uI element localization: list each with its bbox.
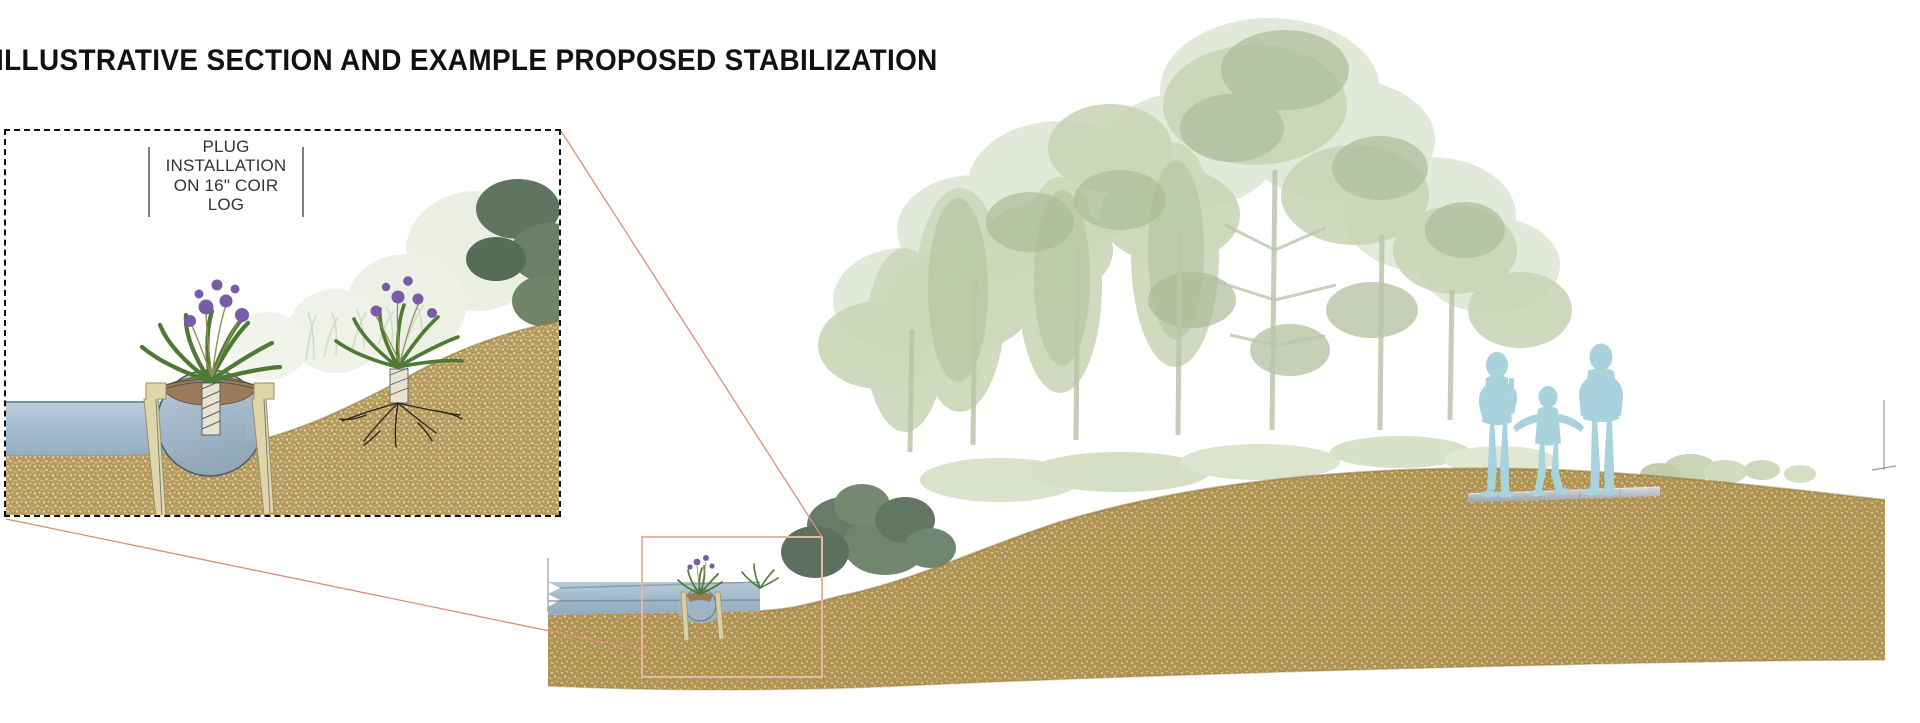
callout-label: PLUG INSTALLATION ON 16" COIR LOG: [149, 137, 303, 215]
stream-water: [548, 582, 760, 615]
plug-installation-inset: PLUG INSTALLATION ON 16" COIR LOG: [4, 129, 561, 517]
shrub-cluster-dark: [781, 484, 956, 578]
tree-canopy-group: [818, 18, 1572, 452]
mini-flowers: [687, 555, 714, 570]
illustration-canvas: ILLUSTRATIVE SECTION AND EXAMPLE PROPOSE…: [0, 0, 1920, 723]
plug-flowers: [184, 280, 249, 328]
coir-band: [202, 381, 220, 435]
right-reference-tick: [1872, 400, 1896, 470]
